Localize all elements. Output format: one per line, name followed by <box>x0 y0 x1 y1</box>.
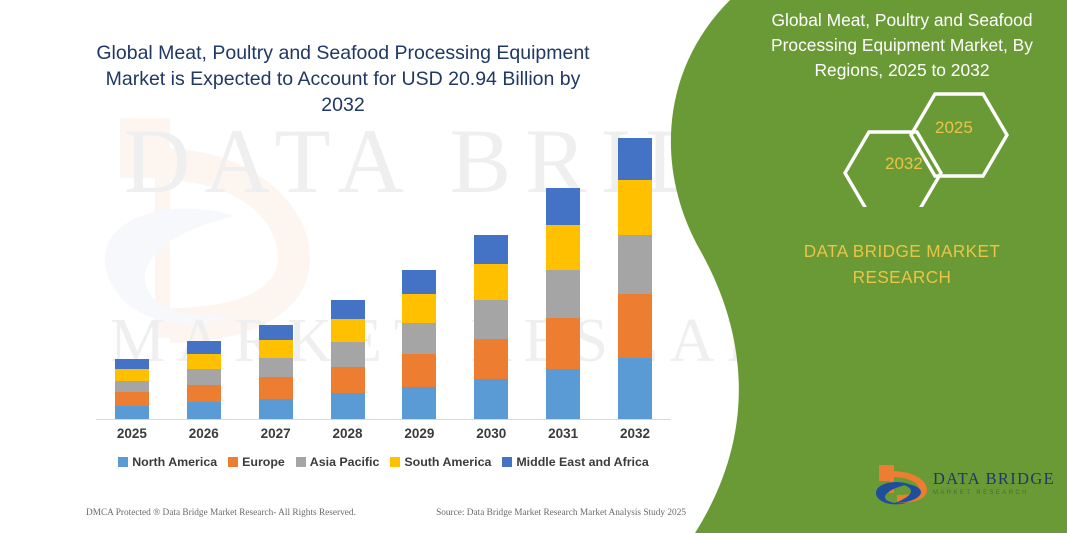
bar-segment <box>618 358 652 419</box>
bar-segment <box>618 294 652 358</box>
bar-segment <box>187 402 221 419</box>
stacked-bar <box>115 359 149 419</box>
panel-title: Global Meat, Poultry and Seafood Process… <box>755 8 1049 83</box>
bar-segment <box>402 387 436 419</box>
bar-group <box>312 300 384 419</box>
bar-segment <box>115 392 149 406</box>
legend-item[interactable]: Middle East and Africa <box>502 455 648 469</box>
stacked-bar <box>259 325 293 419</box>
bar-segment <box>474 300 508 338</box>
legend-label: Middle East and Africa <box>516 455 648 469</box>
page-title: Global Meat, Poultry and Seafood Process… <box>88 40 598 118</box>
x-axis-tick-2028: 2028 <box>312 426 384 441</box>
bar-segment <box>259 358 293 377</box>
bar-segment <box>331 300 365 319</box>
x-axis-tick-2032: 2032 <box>599 426 671 441</box>
legend-swatch-icon <box>390 457 400 467</box>
bar-group <box>96 359 168 419</box>
bar-segment <box>546 225 580 270</box>
bar-segment <box>331 367 365 394</box>
brand-name: DATA BRIDGE MARKET RESEARCH <box>767 238 1037 290</box>
bar-segment <box>474 235 508 264</box>
bar-segment <box>546 188 580 225</box>
bar-segment <box>115 359 149 369</box>
legend-item[interactable]: Asia Pacific <box>296 455 380 469</box>
x-axis-labels: 20252026202720282029203020312032 <box>96 426 671 448</box>
x-axis-tick-2029: 2029 <box>384 426 456 441</box>
bar-group <box>455 235 527 419</box>
logo-subtitle: MARKET RESEARCH <box>933 490 1029 496</box>
bar-segment <box>474 339 508 380</box>
legend-label: Asia Pacific <box>310 455 380 469</box>
stacked-bar-chart <box>96 120 671 419</box>
stacked-bar <box>187 341 221 419</box>
footer-source: Source: Data Bridge Market Research Mark… <box>436 508 686 518</box>
x-axis-tick-2027: 2027 <box>240 426 312 441</box>
bar-segment <box>187 385 221 403</box>
legend-item[interactable]: North America <box>118 455 217 469</box>
bar-segment <box>187 341 221 354</box>
x-axis-tick-2026: 2026 <box>168 426 240 441</box>
bar-segment <box>402 270 436 294</box>
stacked-bar <box>618 138 652 419</box>
hex-label-2032: 2032 <box>885 154 923 174</box>
logo-wordmark: DATA BRIDGE <box>933 469 1055 489</box>
footer: DMCA Protected ® Data Bridge Market Rese… <box>86 508 686 518</box>
bar-group <box>527 188 599 419</box>
hex-label-2025: 2025 <box>935 118 973 138</box>
legend-swatch-icon <box>118 457 128 467</box>
hexagon-outlines-icon <box>807 92 1057 207</box>
bar-segment <box>259 340 293 358</box>
bar-segment <box>259 377 293 399</box>
legend-swatch-icon <box>228 457 238 467</box>
chart-legend: North AmericaEuropeAsia PacificSouth Ame… <box>96 455 671 469</box>
bar-group <box>168 341 240 419</box>
legend-label: Europe <box>242 455 285 469</box>
bar-segment <box>402 323 436 354</box>
legend-item[interactable]: South America <box>390 455 491 469</box>
stacked-bar <box>546 188 580 419</box>
bar-segment <box>187 369 221 384</box>
bar-segment <box>402 294 436 323</box>
x-axis-tick-2030: 2030 <box>455 426 527 441</box>
legend-label: North America <box>132 455 217 469</box>
bar-segment <box>546 318 580 369</box>
chart-pane: Global Meat, Poultry and Seafood Process… <box>0 0 760 533</box>
bar-segment <box>115 369 149 380</box>
x-axis-tick-2025: 2025 <box>96 426 168 441</box>
stacked-bar <box>402 270 436 419</box>
bar-segment <box>618 138 652 180</box>
infographic-root: DATA BRIDGE MARKET RESEARCH Global Meat,… <box>0 0 1067 533</box>
stacked-bar <box>474 235 508 419</box>
bar-segment <box>546 270 580 319</box>
x-axis-tick-2031: 2031 <box>527 426 599 441</box>
bar-segment <box>115 406 149 419</box>
x-axis-line <box>96 419 671 420</box>
bar-segment <box>331 319 365 342</box>
bar-segment <box>115 381 149 392</box>
legend-label: South America <box>404 455 491 469</box>
legend-swatch-icon <box>502 457 512 467</box>
bar-group <box>240 325 312 419</box>
bar-segment <box>474 264 508 300</box>
stacked-bar <box>331 300 365 419</box>
bar-segment <box>331 342 365 366</box>
bar-segment <box>187 354 221 369</box>
bar-segment <box>618 235 652 294</box>
legend-swatch-icon <box>296 457 306 467</box>
legend-item[interactable]: Europe <box>228 455 285 469</box>
bar-segment <box>402 354 436 387</box>
company-logo: DATA BRIDGE MARKET RESEARCH <box>875 463 1060 511</box>
data-bridge-logo-icon <box>875 463 931 509</box>
bar-segment <box>259 325 293 340</box>
footer-copyright: DMCA Protected ® Data Bridge Market Rese… <box>86 508 356 518</box>
bar-group <box>384 270 456 419</box>
bar-segment <box>474 379 508 419</box>
bar-segment <box>331 393 365 419</box>
regions-panel: Global Meat, Poultry and Seafood Process… <box>737 0 1067 533</box>
bar-segment <box>546 369 580 419</box>
bar-group <box>599 138 671 419</box>
bar-segment <box>259 399 293 419</box>
bar-segment <box>618 180 652 235</box>
year-hexagons: 2025 2032 <box>807 92 1057 207</box>
